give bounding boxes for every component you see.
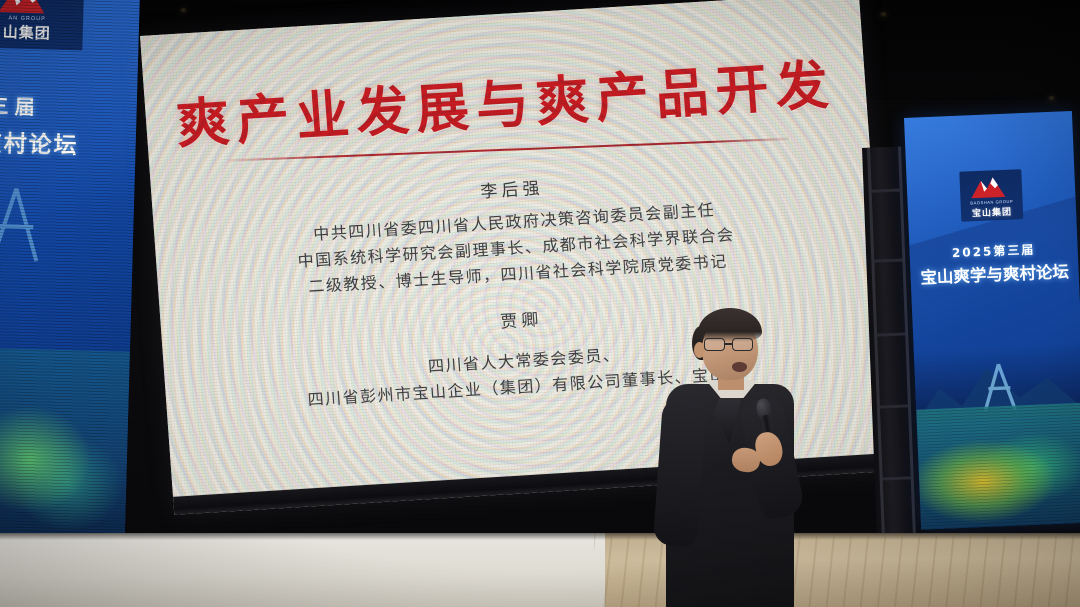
truss-rung: [878, 404, 910, 408]
stage-light-icon: [180, 8, 187, 13]
logo-cn-text-left: 山集团: [2, 21, 51, 43]
eyeglass-bridge: [725, 343, 732, 345]
truss-rung: [875, 332, 907, 336]
stage-scene: AN GROUP 山集团 第三届 与爽村论坛 爽产业发展与爽产品开发 李后强 中…: [0, 0, 1080, 607]
mountain-icon: [969, 175, 1014, 201]
stage-light-icon: [880, 12, 887, 17]
stage-light-icon: [1048, 96, 1055, 101]
left-banner-line-2: 与爽村论坛: [0, 123, 139, 162]
truss-rung: [872, 258, 904, 262]
right-banner-led-texture: [916, 403, 1080, 530]
arch-graphic-icon-left: [0, 182, 57, 270]
truss-rung: [870, 189, 902, 193]
presenter-mouth: [732, 362, 747, 372]
eyeglasses-icon: [704, 338, 756, 351]
truss-rung: [881, 476, 913, 480]
speaker-presenter: [640, 300, 870, 607]
right-vertical-led-banner: BAOSHAN GROUP 宝山集团 2025第三届 宝山爽学与爽村论坛: [904, 111, 1080, 530]
eyeglass-lens-right: [732, 338, 753, 351]
left-banner-landscape-graphic: [0, 348, 130, 542]
baoshan-group-logo-left: AN GROUP 山集团: [0, 0, 84, 50]
baoshan-group-logo-right: BAOSHAN GROUP 宝山集团: [959, 169, 1023, 222]
eyeglass-lens-left: [704, 338, 725, 351]
stage-floor: [0, 533, 1080, 607]
mountain-icon: [0, 0, 59, 16]
presenter-hair: [698, 308, 762, 342]
left-banner-line-1: 第三届: [0, 89, 113, 122]
logo-cn-text-right: 宝山集团: [972, 205, 1013, 220]
left-vertical-led-banner: AN GROUP 山集团 第三届 与爽村论坛: [0, 0, 140, 570]
